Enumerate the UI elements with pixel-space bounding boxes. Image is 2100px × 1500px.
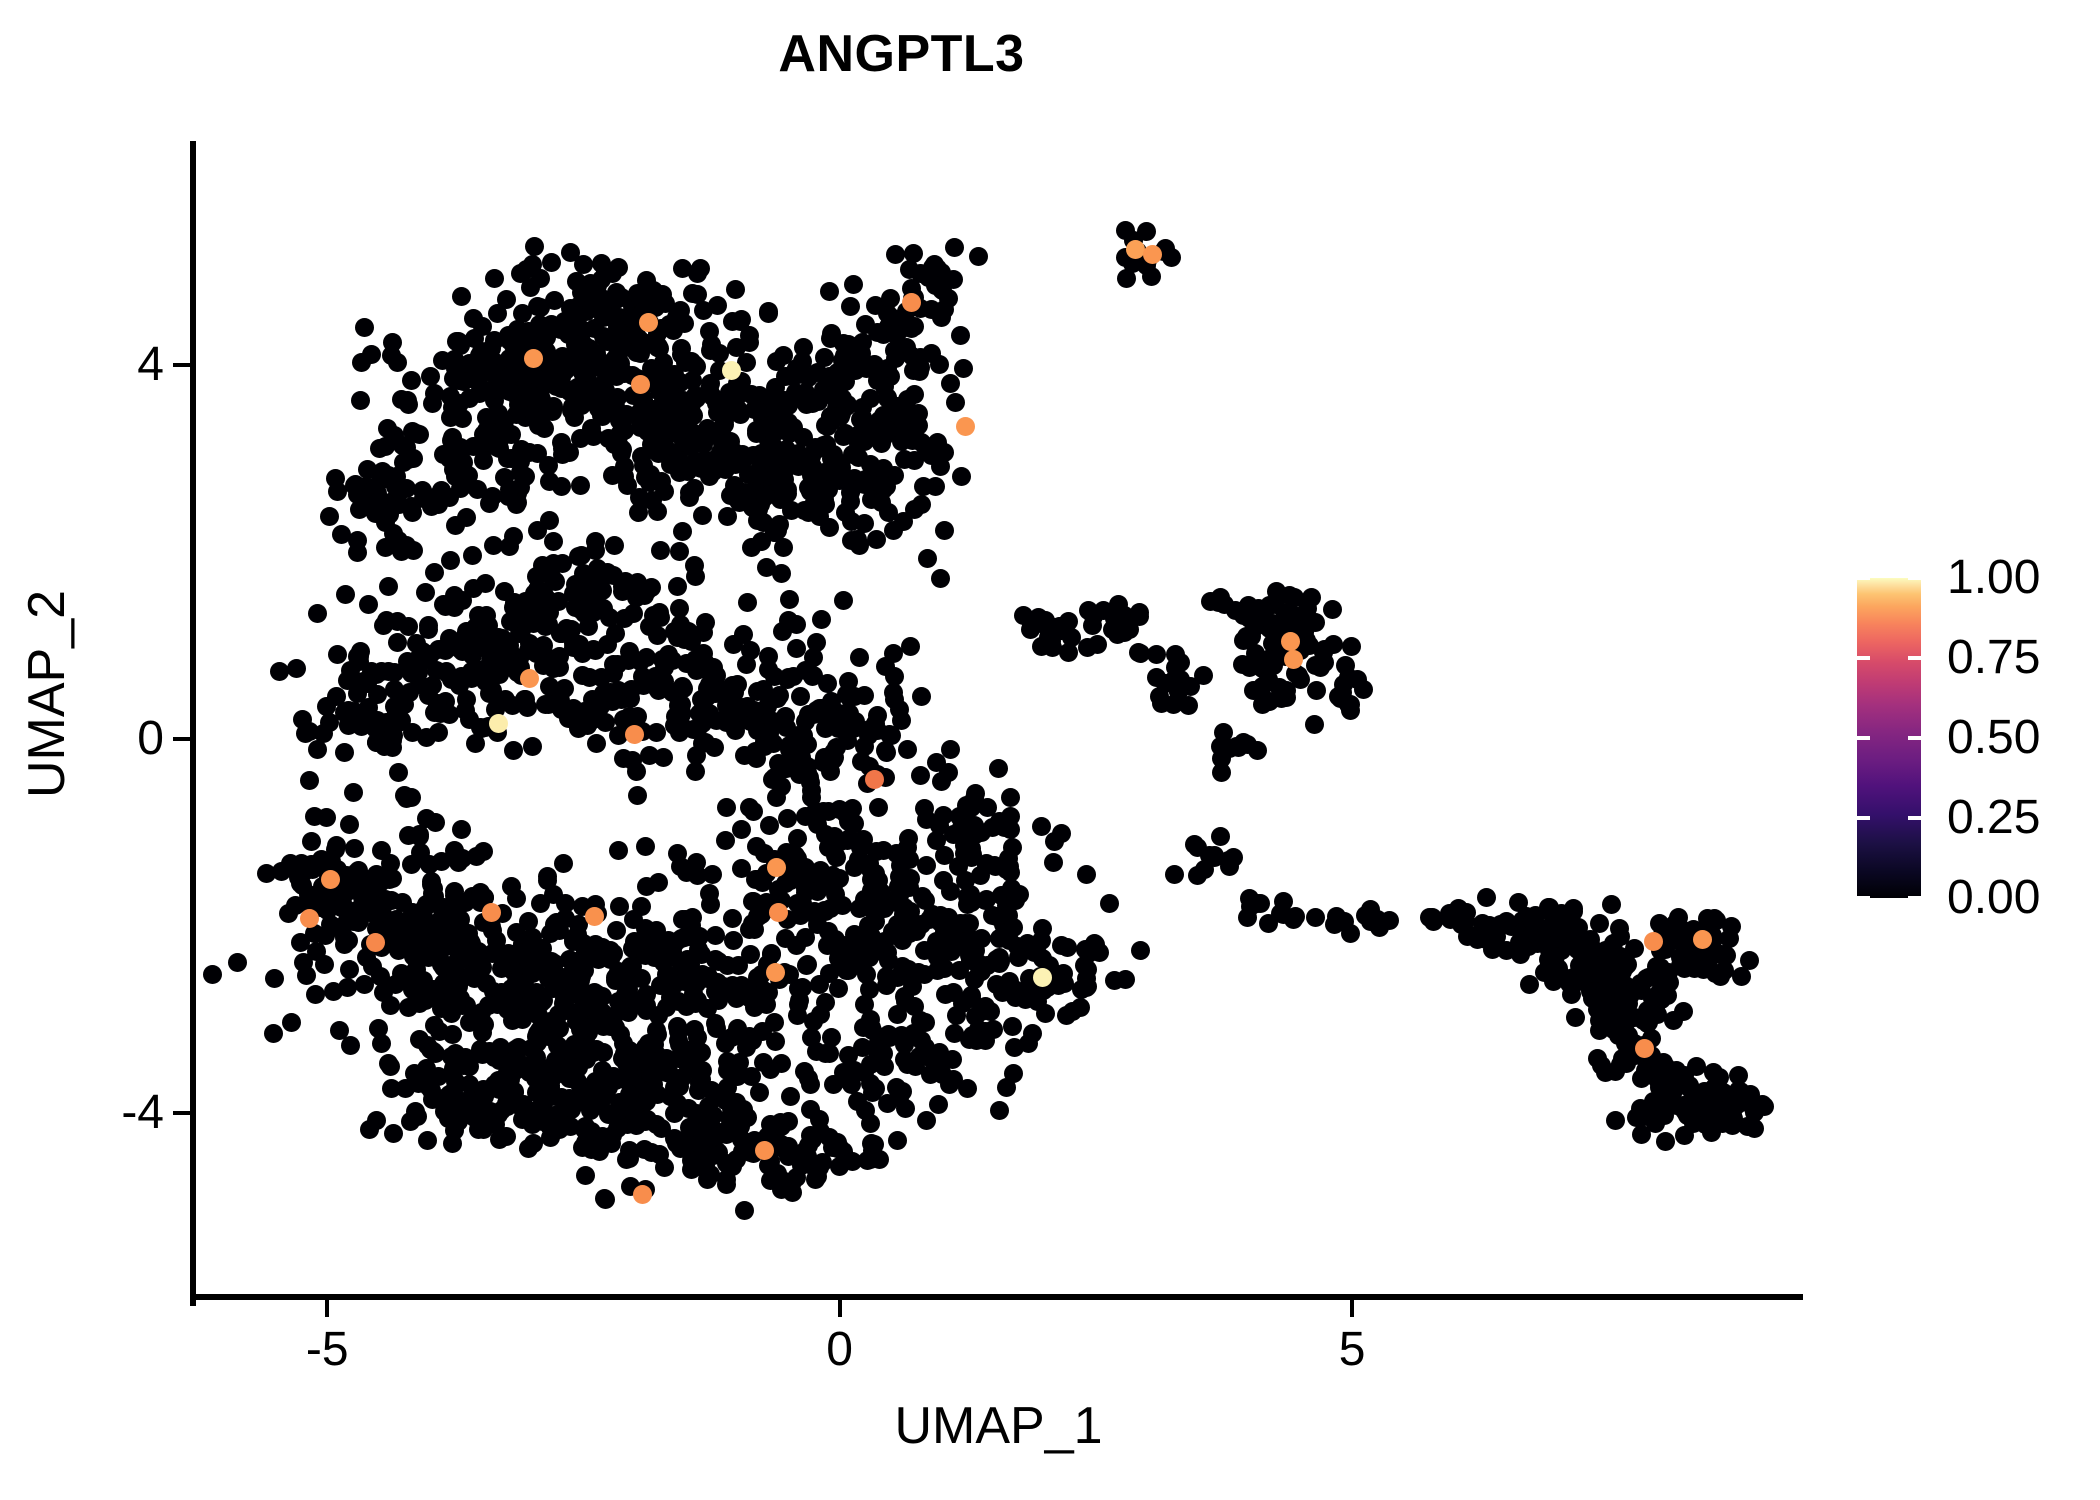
scatter-point [886,349,905,368]
scatter-point [279,904,298,923]
scatter-point [807,633,826,652]
scatter-point [737,655,756,674]
scatter-point [912,495,931,514]
scatter-point [811,861,830,880]
scatter-point [1032,931,1051,950]
scatter-point [685,1020,704,1039]
scatter-point [595,1011,614,1030]
scatter-point [642,1143,661,1162]
scatter-point [335,935,354,954]
scatter-point [788,829,807,848]
x-tick-mark [1350,1300,1354,1317]
scatter-point [703,865,722,884]
scatter-point [833,389,852,408]
scatter-point [791,687,810,706]
scatter-point [545,291,564,310]
scatter-point [538,867,557,886]
scatter-point [320,713,339,732]
scatter-point [781,1087,800,1106]
scatter-point [446,516,465,535]
scatter-point [883,922,902,941]
scatter-point [1566,1008,1585,1027]
colorbar-tick-mark [1908,656,1921,660]
scatter-point [1253,677,1272,696]
scatter-point [550,658,569,677]
scatter-point [330,1021,349,1040]
scatter-point [761,1060,780,1079]
scatter-point [816,825,835,844]
scatter-point [384,524,403,543]
scatter-point [566,634,585,653]
scatter-point [358,891,377,910]
scatter-point [379,662,398,681]
scatter-point [446,917,465,936]
scatter-point-highlighted [769,903,788,922]
scatter-point [424,1042,443,1061]
scatter-point [759,302,778,321]
scatter-point [879,1025,898,1044]
scatter-point-highlighted [1635,1039,1654,1058]
page-title: ANGPTL3 [0,24,1803,84]
scatter-point [1610,919,1629,938]
scatter-point [392,390,411,409]
scatter-point [419,620,438,639]
scatter-point [789,995,808,1014]
scatter-point [387,910,406,929]
scatter-point [1105,971,1124,990]
scatter-point [743,1031,762,1050]
colorbar-tick-label: 0.00 [1947,870,2040,926]
colorbar-tick-mark [1908,816,1921,820]
scatter-point [788,849,807,868]
scatter-point [841,492,860,511]
scatter-point [772,564,791,583]
scatter-point [783,451,802,470]
scatter-point [1162,248,1181,267]
scatter-point [670,542,689,561]
scatter-point [499,487,518,506]
scatter-point [453,996,472,1015]
scatter-point [644,606,663,625]
scatter-point [934,806,953,825]
scatter-point [629,503,648,522]
scatter-point [296,724,315,743]
scatter-point [689,458,708,477]
scatter-point [819,802,838,821]
scatter-point [767,467,786,486]
scatter-point [822,412,841,431]
scatter-point [628,786,647,805]
scatter-point [321,915,340,934]
scatter-point [441,551,460,570]
scatter-point [976,1031,995,1050]
scatter-point [287,659,306,678]
scatter-point [627,934,646,953]
scatter-point [1109,595,1128,614]
scatter-point-highlighted [482,903,501,922]
scatter-point [308,740,327,759]
scatter-point [694,301,713,320]
scatter-point [671,301,690,320]
scatter-point [530,315,549,334]
scatter-point [868,323,887,342]
scatter-point [777,759,796,778]
scatter-point [348,684,367,703]
scatter-point [759,647,778,666]
scatter-point [1131,941,1150,960]
scatter-point [525,237,544,256]
scatter-point [761,1115,780,1134]
scatter-point [389,763,408,782]
y-tick-label: 4 [0,337,164,393]
scatter-point [859,916,878,935]
scatter-point [866,1079,885,1098]
scatter-point [728,1019,747,1038]
scatter-point [1583,989,1602,1008]
scatter-point [587,734,606,753]
scatter-point [651,541,670,560]
scatter-point [1077,865,1096,884]
scatter-point [762,945,781,964]
x-tick-label: 5 [1272,1322,1432,1378]
scatter-point [544,532,563,551]
scatter-point [571,476,590,495]
scatter-point [1579,936,1598,955]
scatter-point [551,320,570,339]
scatter-point [908,1050,927,1069]
colorbar-tick-mark [1857,896,1870,900]
scatter-point [551,1040,570,1059]
scatter-point [1044,853,1063,872]
scatter-point [479,996,498,1015]
scatter-point [670,463,689,482]
scatter-point [749,465,768,484]
scatter-point [1643,989,1662,1008]
scatter-point [723,909,742,928]
scatter-point [951,326,970,345]
scatter-point [384,1124,403,1143]
scatter-point [425,563,444,582]
scatter-point [784,367,803,386]
scatter-point [1234,631,1253,650]
scatter-point [994,925,1013,944]
scatter-point [869,871,888,890]
scatter-point [282,1013,301,1032]
scatter-point [954,359,973,378]
scatter-point [935,300,954,319]
scatter-point [972,1002,991,1021]
scatter-point [732,310,751,329]
scatter-point [594,1043,613,1062]
scatter-point [1130,603,1149,622]
scatter-point [1740,951,1759,970]
scatter-point [596,1190,615,1209]
scatter-point [1315,640,1334,659]
scatter-point [541,1076,560,1095]
x-tick-mark [325,1300,329,1317]
scatter-point [473,317,492,336]
scatter-point [476,574,495,593]
scatter-point [614,749,633,768]
scatter-point [710,344,729,363]
scatter-point [756,487,775,506]
scatter-point [869,798,888,817]
scatter-point [1368,910,1387,929]
scatter-point [308,604,327,623]
scatter-point [816,902,835,921]
scatter-point [403,422,422,441]
scatter-point [338,978,357,997]
scatter-point [932,772,951,791]
scatter-point [591,288,610,307]
scatter-point [1336,656,1355,675]
scatter-point [894,905,913,924]
scatter-point [1137,222,1156,241]
scatter-point [340,960,359,979]
scatter-point [509,943,528,962]
x-axis-title: UMAP_1 [194,1396,1803,1456]
scatter-point-highlighted [489,714,508,733]
scatter-point [335,743,354,762]
scatter-point [670,599,689,618]
scatter-point [467,1102,486,1121]
y-axis-line [190,141,196,1306]
scatter-point [1619,1026,1638,1045]
scatter-point [584,984,603,1003]
scatter-point [1078,638,1097,657]
scatter-point [327,836,346,855]
scatter-point [1272,689,1291,708]
scatter-point [716,831,735,850]
scatter-point [1675,1126,1694,1145]
scatter-point [728,1067,747,1086]
scatter-point [978,798,997,817]
scatter-point [862,899,881,918]
scatter-point [640,473,659,492]
colorbar-tick-mark [1857,816,1870,820]
scatter-point [315,955,334,974]
scatter-point [609,841,628,860]
scatter-point [947,1006,966,1025]
scatter-point [927,753,946,772]
scatter-point [1674,1002,1693,1021]
scatter-point-highlighted [722,361,741,380]
scatter-point [370,439,389,458]
scatter-point [674,679,693,698]
scatter-point [796,807,815,826]
scatter-point [523,255,542,274]
scatter-point [544,885,563,904]
scatter-point [631,418,650,437]
scatter-point [673,522,692,541]
scatter-point [765,1013,784,1032]
scatter-point [660,1064,679,1083]
y-axis-title: UMAP_2 [17,394,77,994]
x-axis-line [190,1294,1803,1300]
scatter-point [798,955,817,974]
colorbar-tick-label: 1.00 [1947,550,2040,606]
scatter-point [1279,603,1298,622]
scatter-point [819,922,838,941]
scatter-point [940,1075,959,1094]
scatter-point [414,971,433,990]
scatter-point [950,961,969,980]
scatter-point [701,895,720,914]
scatter-point [1306,908,1325,927]
scatter-point [822,1028,841,1047]
scatter-point-highlighted [766,963,785,982]
scatter-point [1286,907,1305,926]
scatter-point [533,1093,552,1112]
scatter-point [306,985,325,1004]
scatter-point [381,996,400,1015]
scatter-point [767,402,786,421]
scatter-point [1545,957,1564,976]
scatter-point [706,950,725,969]
scatter-point [345,839,364,858]
scatter-point [1058,938,1077,957]
scatter-point [884,521,903,540]
scatter-point [509,601,528,620]
scatter-point [901,637,920,656]
scatter-point [778,670,797,689]
scatter-point [484,536,503,555]
scatter-point [900,850,919,869]
scatter-point [815,348,834,367]
scatter-point [833,896,852,915]
scatter-point [606,624,625,643]
scatter-point [504,741,523,760]
scatter-point [818,755,837,774]
scatter-point [492,959,511,978]
scatter-point [416,583,435,602]
scatter-point [1305,715,1324,734]
scatter-point [735,1201,754,1220]
scatter-point [527,1027,546,1046]
scatter-point-highlighted [767,858,786,877]
scatter-point [727,338,746,357]
scatter-point [434,974,453,993]
scatter-point [732,859,751,878]
scatter-point [853,398,872,417]
colorbar-tick-label: 0.75 [1947,630,2040,686]
scatter-point [425,1016,444,1035]
scatter-point [780,590,799,609]
colorbar-tick-mark [1908,576,1921,580]
scatter-point [886,245,905,264]
scatter-point [778,1143,797,1162]
scatter-point [297,966,316,985]
scatter-point [713,394,732,413]
scatter-point [682,395,701,414]
scatter-point [418,1131,437,1150]
scatter-point [605,536,624,555]
scatter-point [1473,914,1492,933]
scatter-point [397,479,416,498]
scatter-point [685,355,704,374]
scatter-point [721,1157,740,1176]
scatter-point [1195,860,1214,879]
scatter-point [779,1112,798,1131]
scatter-point [917,856,936,875]
scatter-point [972,962,991,981]
scatter-point [336,585,355,604]
scatter-point [340,815,359,834]
scatter-point [607,921,626,940]
scatter-point [717,798,736,817]
colorbar-tick-mark [1908,896,1921,900]
scatter-point [848,1092,867,1111]
scatter-point [1032,817,1051,836]
scatter-point [931,457,950,476]
scatter-point [818,674,837,693]
scatter-point [767,788,786,807]
scatter-point [508,1041,527,1060]
scatter-point [637,1111,656,1130]
scatter-point [566,356,585,375]
scatter-point [736,448,755,467]
scatter-point [539,456,558,475]
scatter-point-highlighted [865,770,884,789]
scatter-point [561,243,580,262]
scatter-point [898,740,917,759]
scatter-point [1656,1132,1675,1151]
scatter-point [689,1043,708,1062]
scatter-point [1675,1066,1694,1085]
scatter-point [636,837,655,856]
scatter-point [608,655,627,674]
scatter-point [732,1105,751,1124]
scatter-point [688,991,707,1010]
scatter-point-highlighted [1143,245,1162,264]
scatter-point [1194,666,1213,685]
scatter-point [1003,838,1022,857]
scatter-point [665,622,684,641]
scatter-point [302,832,321,851]
scatter-point [705,738,724,757]
scatter-point [1100,894,1119,913]
scatter-point [857,965,876,984]
scatter-point [573,600,592,619]
scatter-point [819,480,838,499]
scatter-point [877,967,896,986]
scatter-point [672,339,691,358]
colorbar-tick-mark [1908,736,1921,740]
scatter-point [698,687,717,706]
scatter-point [1719,1105,1738,1124]
scatter-point [1179,696,1198,715]
colorbar-tick-label: 0.25 [1947,790,2040,846]
scatter-point [656,438,675,457]
scatter-point [718,507,737,526]
scatter-point [399,998,418,1017]
scatter-point [734,698,753,717]
scatter-point [452,287,471,306]
scatter-point [1001,820,1020,839]
scatter-point [730,987,749,1006]
scatter-point [1497,912,1516,931]
scatter-point [497,290,516,309]
scatter-point [1514,939,1533,958]
scatter-point [989,759,1008,778]
scatter-point [375,737,394,756]
scatter-point-highlighted [520,669,539,688]
scatter-point [1116,221,1135,240]
scatter-point [659,645,678,664]
scatter-point [1702,1123,1721,1142]
scatter-point [748,511,767,530]
scatter-point-highlighted [321,870,340,889]
